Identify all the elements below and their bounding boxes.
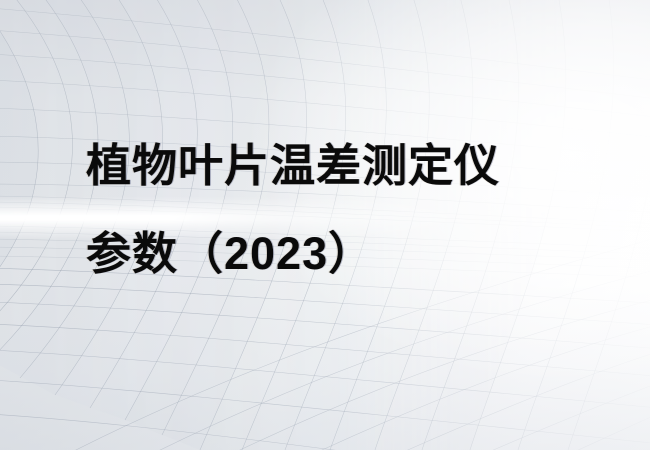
slide-title-line-2: 参数（2023） [86, 210, 606, 298]
title-slide: 植物叶片温差测定仪 参数（2023） [0, 0, 650, 450]
slide-title: 植物叶片温差测定仪 参数（2023） [86, 122, 606, 298]
slide-title-line-1: 植物叶片温差测定仪 [86, 122, 606, 210]
